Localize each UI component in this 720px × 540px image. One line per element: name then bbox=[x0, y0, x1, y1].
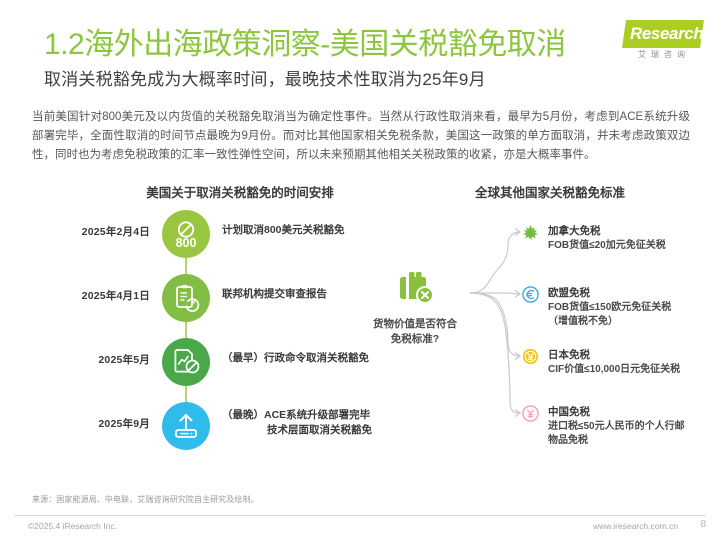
branch-title: 加拿大免税 bbox=[548, 223, 601, 238]
branch-desc-line1: CIF价值≤10,000日元免征关税 bbox=[548, 363, 720, 377]
timeline-label: 计划取消800美元关税豁免 bbox=[222, 223, 372, 238]
mindmap-center-node: 货物价值是否符合 免税标准? bbox=[360, 267, 470, 347]
timeline: 2025年2月4日 800 计划取消800美元关税豁免 2025年4月1日 bbox=[32, 210, 362, 460]
branch-title: 中国免税 bbox=[548, 404, 590, 419]
timeline-label-line2: 技术层面取消关税豁免 bbox=[222, 423, 372, 438]
timeline-item: 2025年9月 （最晚）ACE系统升级部署完毕 技术层面取消关税豁免 bbox=[32, 402, 362, 450]
copyright-text: ©2025.4 iResearch Inc. bbox=[28, 521, 117, 531]
euro-coin-icon bbox=[520, 284, 540, 304]
branch-desc: CIF价值≤10,000日元免征关税 bbox=[548, 363, 720, 377]
timeline-connector bbox=[185, 322, 187, 338]
center-label-line2: 免税标准? bbox=[360, 332, 470, 347]
system-upgrade-icon bbox=[162, 402, 210, 450]
document-cancel-icon bbox=[162, 338, 210, 386]
branch-desc-line1: FOB货值≤20加元免征关税 bbox=[548, 239, 720, 253]
right-section-heading: 全球其他国家关税豁免标准 bbox=[400, 182, 700, 201]
logo-wordmark: Research bbox=[630, 24, 703, 44]
page-title: 1.2海外出海政策洞察-美国关税豁免取消 bbox=[44, 26, 644, 64]
branch-desc-line2: 物品免税 bbox=[548, 434, 720, 448]
yen-coin-icon bbox=[520, 346, 540, 366]
left-section-heading: 美国关于取消关税豁免的时间安排 bbox=[90, 182, 390, 201]
website-url: www.iresearch.com.cn bbox=[593, 521, 678, 531]
branch-desc: FOB货值≤150欧元免征关税 （增值税不免） bbox=[548, 301, 720, 329]
slide-root: 1.2海外出海政策洞察-美国关税豁免取消 取消关税豁免成为大概率时间，最晚技术性… bbox=[0, 0, 720, 540]
timeline-item: 2025年5月 （最早）行政命令取消关税豁免 bbox=[32, 338, 362, 386]
timeline-label: （最晚）ACE系统升级部署完毕 技术层面取消关税豁免 bbox=[222, 408, 372, 438]
mindmap: 货物价值是否符合 免税标准? 加拿大免税 FOB货值≤20加元免征关税 bbox=[352, 205, 720, 465]
timeline-connector bbox=[185, 386, 187, 402]
center-label-line1: 货物价值是否符合 bbox=[360, 317, 470, 332]
branch-title: 日本免税 bbox=[548, 347, 590, 362]
timeline-connector bbox=[185, 258, 187, 274]
branch-desc: FOB货值≤20加元免征关税 bbox=[548, 239, 720, 253]
body-paragraph: 当前美国针对800美元及以内货值的关税豁免取消当为确定性事件。当然从行政性取消来… bbox=[32, 108, 690, 165]
timeline-date: 2025年4月1日 bbox=[32, 288, 150, 303]
branch-desc-line1: 进口税≤50元人民币的个人行邮 bbox=[548, 420, 720, 434]
timeline-label-line1: （最晚）ACE系统升级部署完毕 bbox=[222, 408, 372, 423]
branch-desc-line1: FOB货值≤150欧元免征关税 bbox=[548, 301, 720, 315]
iresearch-logo: i Research 艾瑞咨询 bbox=[616, 20, 702, 64]
report-review-icon bbox=[162, 274, 210, 322]
branch-title: 欧盟免税 bbox=[548, 285, 590, 300]
package-cancel-icon bbox=[393, 267, 437, 311]
yuan-coin-icon bbox=[520, 403, 540, 423]
no-800-icon: 800 bbox=[162, 210, 210, 258]
timeline-label: （最早）行政命令取消关税豁免 bbox=[222, 351, 372, 366]
logo-i-mark: i bbox=[620, 22, 623, 36]
maple-leaf-icon bbox=[520, 222, 540, 242]
svg-text:800: 800 bbox=[176, 236, 197, 250]
page-number: 8 bbox=[700, 519, 706, 530]
timeline-date: 2025年2月4日 bbox=[32, 224, 150, 239]
mindmap-center-label: 货物价值是否符合 免税标准? bbox=[360, 317, 470, 347]
source-note: 来源：国家能源局、中电联，艾瑞咨询研究院自主研究及绘制。 bbox=[32, 494, 259, 505]
page-subtitle: 取消关税豁免成为大概率时间，最晚技术性取消为25年9月 bbox=[44, 68, 684, 92]
timeline-item: 2025年2月4日 800 计划取消800美元关税豁免 bbox=[32, 210, 362, 258]
branch-desc: 进口税≤50元人民币的个人行邮 物品免税 bbox=[548, 420, 720, 448]
timeline-item: 2025年4月1日 联邦机构提交审查报告 bbox=[32, 274, 362, 322]
footer-divider bbox=[14, 515, 706, 516]
timeline-label: 联邦机构提交审查报告 bbox=[222, 287, 372, 302]
timeline-date: 2025年9月 bbox=[32, 416, 150, 431]
logo-chinese-name: 艾瑞咨询 bbox=[624, 49, 704, 60]
branch-desc-line2: （增值税不免） bbox=[548, 315, 720, 329]
timeline-date: 2025年5月 bbox=[32, 352, 150, 367]
